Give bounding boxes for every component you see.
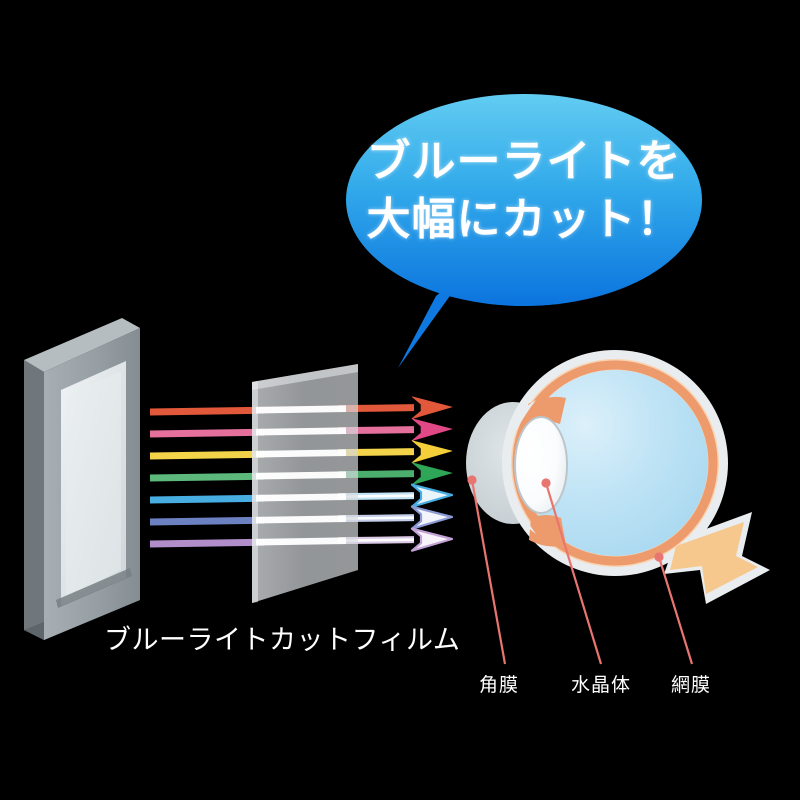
part-cornea-leader-dot: [467, 475, 476, 484]
ray-yellow-film-transition: [256, 453, 346, 455]
ray-cyan-film-transition: [256, 497, 346, 499]
ray-green-segment-before: [150, 476, 264, 478]
part-retina-leader-line: [659, 557, 692, 664]
lens: [515, 417, 567, 513]
ray-violet-film-transition: [256, 541, 346, 543]
diagram-canvas: ブルーライトを 大幅にカット！ ブルーライトカットフィルム 角膜 水晶体 網膜: [0, 0, 800, 800]
part-lens-leader-dot: [541, 478, 550, 487]
ray-red-film-transition: [256, 409, 346, 411]
film-caption: ブルーライトカットフィルム: [104, 618, 460, 657]
speech-bubble-line-1: ブルーライトを: [354, 136, 694, 187]
ray-indigo-segment-before: [150, 520, 264, 522]
film-transition-glow-group: [256, 409, 346, 543]
ray-green-film-transition: [256, 475, 346, 477]
label-cornea: 角膜: [479, 670, 519, 697]
film-sheet: [252, 364, 358, 603]
monitor-screen-glow: [66, 371, 121, 598]
ray-pink-film-transition: [256, 431, 346, 433]
film-left-edge: [252, 381, 258, 603]
ray-green-arrow-head: [412, 463, 452, 485]
ray-violet-arrow-head: [412, 529, 452, 551]
label-retina: 網膜: [671, 670, 711, 697]
ray-yellow-segment-before: [150, 454, 264, 456]
ray-cyan-arrow-head: [412, 485, 452, 507]
ray-yellow-arrow-head: [412, 441, 452, 463]
ray-pink-segment-before: [150, 432, 264, 434]
part-retina-leader-dot: [654, 552, 663, 561]
arrow-heads-group: [412, 397, 452, 551]
monitor-side-face: [24, 360, 44, 640]
ray-pink-arrow-head: [412, 419, 452, 441]
ray-red-arrow-head: [412, 397, 452, 419]
blue-light-cut-film: [252, 364, 358, 603]
ray-violet-segment-before: [150, 542, 264, 544]
ray-indigo-film-transition: [256, 519, 346, 521]
ray-red-segment-before: [150, 410, 264, 412]
ray-cyan-segment-before: [150, 498, 264, 500]
label-lens: 水晶体: [571, 670, 631, 697]
display-monitor: [24, 318, 140, 640]
ray-indigo-arrow-head: [412, 507, 452, 529]
speech-bubble-line-2: 大幅にカット！: [354, 194, 694, 245]
eye-cross-section: [466, 350, 770, 604]
